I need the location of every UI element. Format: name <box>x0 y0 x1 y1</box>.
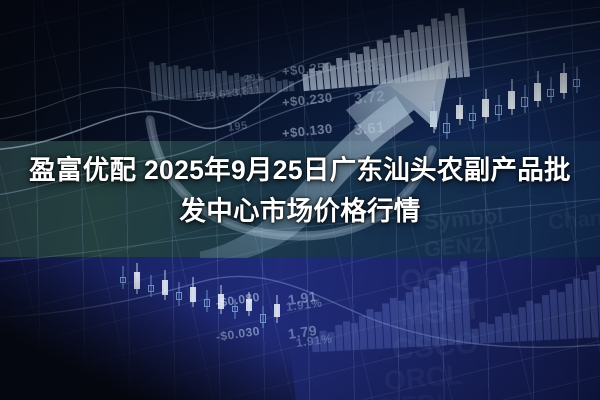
headline: 盈富优配 2025年9月25日广东汕头农副产品批 发中心市场价格行情 <box>0 150 600 232</box>
banner-image: +$0.2503.85+$0.2303.72+$0.1303.61-$0.080… <box>0 0 600 400</box>
headline-line-1: 盈富优配 2025年9月25日广东汕头农副产品批 <box>14 150 586 191</box>
headline-line-2: 发中心市场价格行情 <box>14 191 586 232</box>
